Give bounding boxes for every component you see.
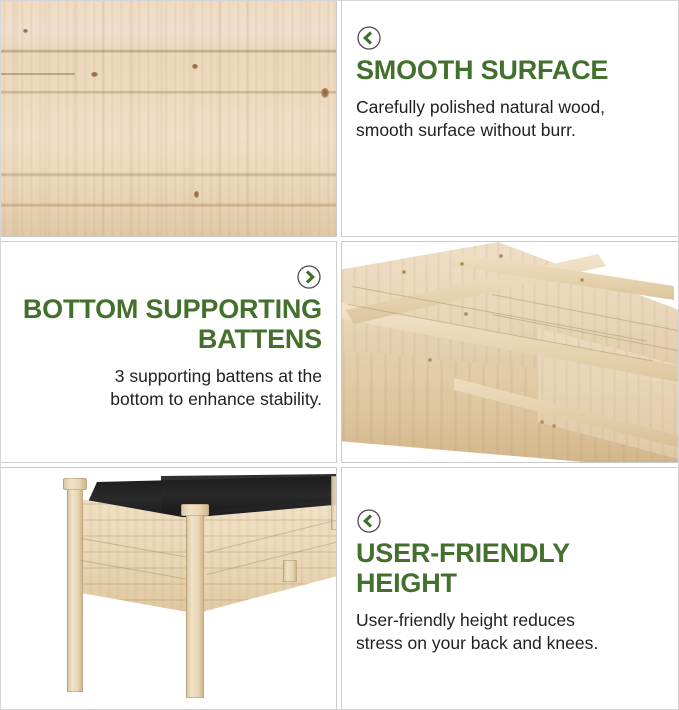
arrow-row — [356, 508, 664, 534]
feature-description: 3 supporting battens at the bottom to en… — [15, 365, 322, 410]
feature-title: SMOOTH SURFACE — [356, 55, 664, 85]
arrow-row — [356, 25, 664, 51]
wood-knot — [194, 191, 199, 198]
wood-knot — [321, 88, 329, 98]
wood-knot — [91, 72, 98, 77]
wood-closeup-photo — [1, 1, 336, 236]
post-cap — [63, 478, 87, 490]
elevated-planter-photo — [1, 468, 336, 709]
screw-hole — [464, 312, 468, 316]
planter-underside-photo — [342, 242, 678, 462]
feature-description: Carefully polished natural wood, smooth … — [356, 96, 664, 141]
screw-hole — [552, 424, 556, 428]
feature-text-smooth-surface: SMOOTH SURFACE Carefully polished natura… — [341, 0, 679, 237]
planter-leg-rear — [331, 476, 337, 530]
feature-text-bottom-supporting-battens: BOTTOM SUPPORTING BATTENS 3 supporting b… — [0, 241, 337, 463]
screw-hole — [499, 254, 503, 258]
wood-knot — [192, 64, 198, 69]
feature-grid-sheet: SMOOTH SURFACE Carefully polished natura… — [0, 0, 679, 710]
feature-title: USER-FRIENDLY HEIGHT — [356, 538, 664, 598]
circle-chevron-right-icon[interactable] — [296, 264, 322, 290]
screw-hole — [580, 278, 584, 282]
screw-hole — [540, 420, 544, 424]
planter-leg-rear — [283, 560, 297, 582]
screw-hole — [428, 358, 432, 362]
feature-image-bottom-supporting-battens — [341, 241, 679, 463]
planter-leg-left — [67, 482, 83, 692]
feature-image-smooth-surface — [0, 0, 337, 237]
planter-wall-right — [187, 504, 337, 620]
circle-chevron-left-icon[interactable] — [356, 508, 382, 534]
feature-text-user-friendly-height: USER-FRIENDLY HEIGHT User-friendly heigh… — [341, 467, 679, 710]
arrow-row — [15, 264, 322, 290]
post-cap — [181, 504, 209, 516]
screw-hole — [460, 262, 464, 266]
circle-chevron-left-icon[interactable] — [356, 25, 382, 51]
wood-knot — [23, 29, 28, 33]
screw-hole — [402, 270, 406, 274]
feature-title: BOTTOM SUPPORTING BATTENS — [15, 294, 322, 354]
wood-crack — [1, 73, 75, 75]
feature-image-user-friendly-height — [0, 467, 337, 710]
feature-description: User-friendly height reduces stress on y… — [356, 609, 664, 654]
planter-leg-front — [186, 508, 204, 698]
